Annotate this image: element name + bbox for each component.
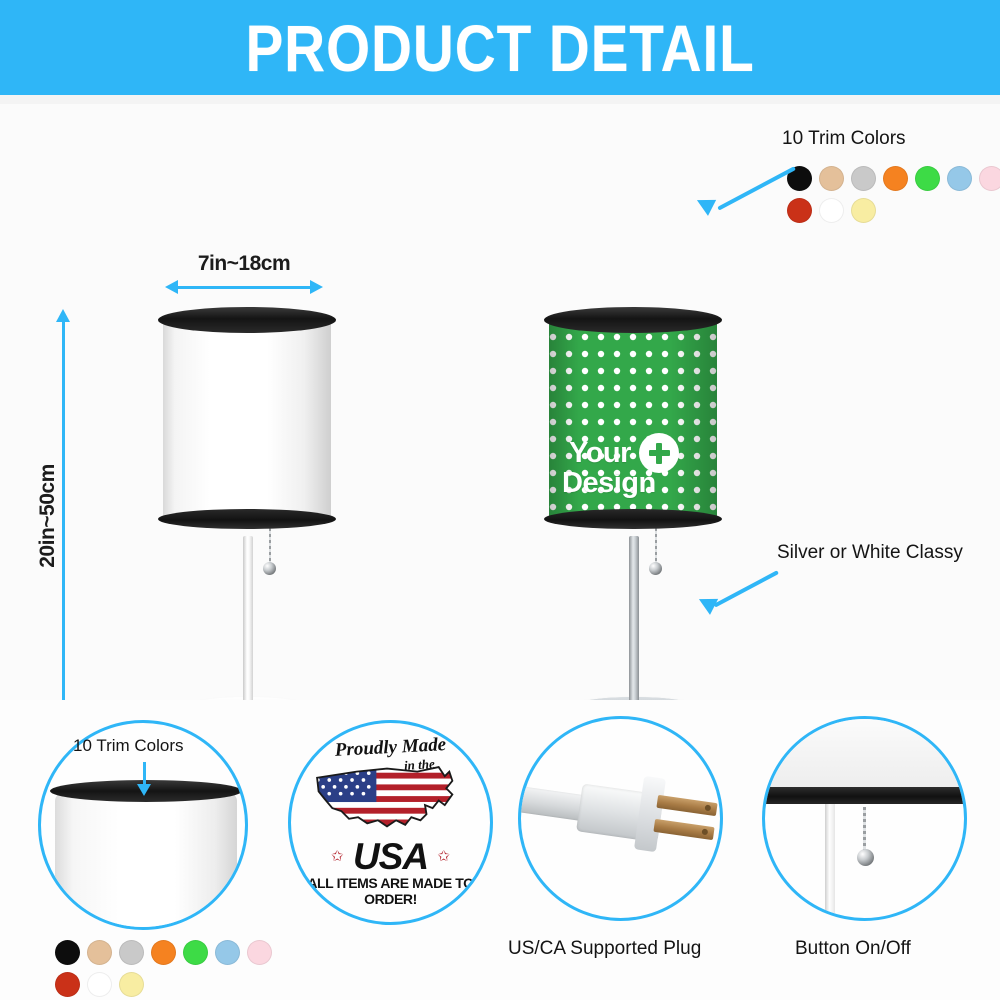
trim-swatch-pink[interactable] [979,166,1000,191]
button-onoff-caption: Button On/Off [795,938,911,960]
trim-swatch-pink[interactable] [247,940,272,965]
trim-swatch-green[interactable] [183,940,208,965]
header-divider [0,95,1000,104]
trim-swatch-tan[interactable] [87,940,112,965]
base-finish-pointer-arrow [700,566,782,618]
trim-colors-down-arrow [137,762,151,796]
shade-trim-top [544,307,722,333]
trim-colors-label-top: 10 Trim Colors [782,128,906,150]
page-header: PRODUCT DETAIL [0,0,1000,95]
shade-trim-top [158,307,336,333]
trim-swatch-white[interactable] [87,972,112,997]
feature-made-in-usa: Proudly Made in the [288,720,493,925]
arrow-shaft [62,319,65,729]
width-dimension-label: 7in~18cm [168,252,320,276]
shade-surface: Your Design [549,316,717,522]
feature-plug [518,716,723,921]
shade-surface [163,316,331,522]
feature-button-onoff [762,716,967,921]
trim-swatch-white[interactable] [819,198,844,223]
shade-surface-closeup [55,793,237,930]
height-dimension-label: 20in~50cm [36,426,60,606]
shade-trim-closeup [762,787,967,804]
trim-colors-label-bottom: 10 Trim Colors [73,736,184,756]
usa-badge: Proudly Made in the [291,723,490,922]
trim-swatch-orange[interactable] [883,166,908,191]
plug-caption: US/CA Supported Plug [508,938,701,960]
arrow-head-icon [693,192,716,216]
arrow-head-icon [695,591,718,615]
shade-bottom-closeup [765,719,964,789]
usa-proudly-text: Proudly Made [291,732,491,764]
trim-swatch-gray[interactable] [851,166,876,191]
usa-star-left-icon: ✩ [331,847,344,865]
product-detail-page: PRODUCT DETAIL 7in~18cm 20in~50cm [0,0,1000,1000]
prong-hole [701,829,708,836]
shade-trim-bottom [544,509,722,529]
lamp-pole-white [243,536,253,708]
lamp-pole-closeup [825,804,835,921]
plug-prong-bottom [653,819,714,840]
page-title: PRODUCT DETAIL [245,10,754,86]
trim-swatch-orange[interactable] [151,940,176,965]
usa-subtitle: ALL ITEMS ARE MADE TO ORDER! [291,875,490,907]
design-text-line2: Design [562,469,656,499]
arrow-shaft [713,570,778,607]
arrow-head-down-icon [137,784,151,796]
design-text-line1: Your [569,439,631,469]
pull-chain-ball-closeup[interactable] [857,849,874,866]
trim-color-swatches-bottom[interactable] [55,940,273,997]
usa-word: USA [291,836,490,878]
trim-swatch-light-blue[interactable] [215,940,240,965]
lamp-shade-white [163,316,331,522]
pull-chain-ball[interactable] [649,562,662,575]
trim-swatch-gray[interactable] [119,940,144,965]
lamp-pole-silver [629,536,639,708]
pull-chain-ball[interactable] [263,562,276,575]
prong-hole [704,805,711,812]
lamp-shade-green: Your Design [549,316,717,522]
trim-swatch-light-blue[interactable] [947,166,972,191]
main-stage: 7in~18cm 20in~50cm [0,104,1000,700]
arrow-head-right-icon [310,280,323,294]
trim-swatch-green[interactable] [915,166,940,191]
trim-swatch-black[interactable] [55,940,80,965]
arrow-shaft [143,762,146,784]
trim-swatch-yellow[interactable] [851,198,876,223]
base-finish-label: Silver or White Classy [777,542,963,564]
plug-prong-top [656,795,717,816]
trim-swatch-tan[interactable] [819,166,844,191]
shade-trim-bottom [158,509,336,529]
width-dimension-arrow [165,280,323,294]
feature-circles-row: 10 Trim Colors Proudly Made in the [0,700,1000,1000]
arrow-shaft [175,286,313,289]
arrow-shaft [717,166,796,210]
trim-swatch-red[interactable] [55,972,80,997]
trim-colors-pointer-arrow [700,162,805,214]
trim-color-swatches-top[interactable] [787,166,1000,223]
usa-star-right-icon: ✩ [437,847,450,865]
trim-swatch-yellow[interactable] [119,972,144,997]
usa-map-flag-icon [309,761,465,837]
